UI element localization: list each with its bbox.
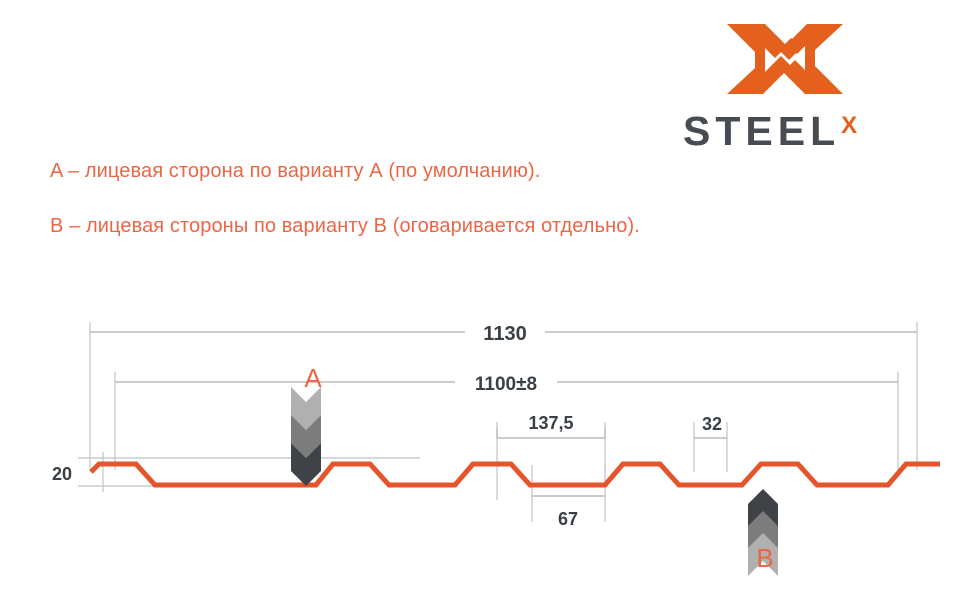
side-b-marker-label: B xyxy=(745,543,785,574)
side-a-marker-label: A xyxy=(293,363,333,394)
dimension-profile-height: 20 xyxy=(52,464,72,484)
dimension-rib-pitch: 137,5 xyxy=(497,413,605,438)
steelx-wordmark: STEELX xyxy=(683,110,905,152)
dimension-useful-width: 1100±8 xyxy=(115,374,898,395)
drawing-page: STEELX A – лицевая сторона по варианту А… xyxy=(0,0,970,597)
legend-variant-b: B – лицевая стороны по варианту B (огова… xyxy=(50,215,640,238)
dimension-label-32: 32 xyxy=(702,414,722,434)
wordmark-steel: STEEL xyxy=(683,108,840,154)
side-a-marker xyxy=(291,387,321,486)
dimension-trough-width: 67 xyxy=(532,496,605,529)
wordmark-x: X xyxy=(841,112,857,139)
dimension-label-67: 67 xyxy=(558,509,578,529)
dimension-label-1100: 1100±8 xyxy=(475,374,537,395)
dimension-label-20: 20 xyxy=(52,464,72,484)
dimension-overall-width: 1130 xyxy=(90,323,917,345)
dimension-label-1130: 1130 xyxy=(483,323,526,345)
extension-lines xyxy=(78,322,917,522)
steelx-logo: STEELX xyxy=(683,16,905,148)
legend-variant-a: A – лицевая сторона по варианту А (по ум… xyxy=(50,160,540,183)
steelx-x-mark-icon xyxy=(725,16,845,102)
dimension-crest-width: 32 xyxy=(694,414,727,438)
profile-technical-drawing: .dim-line { stroke: #b8bcbe; stroke-widt… xyxy=(0,300,970,590)
dimension-label-137-5: 137,5 xyxy=(528,413,573,433)
corrugated-profile-path xyxy=(91,464,940,485)
